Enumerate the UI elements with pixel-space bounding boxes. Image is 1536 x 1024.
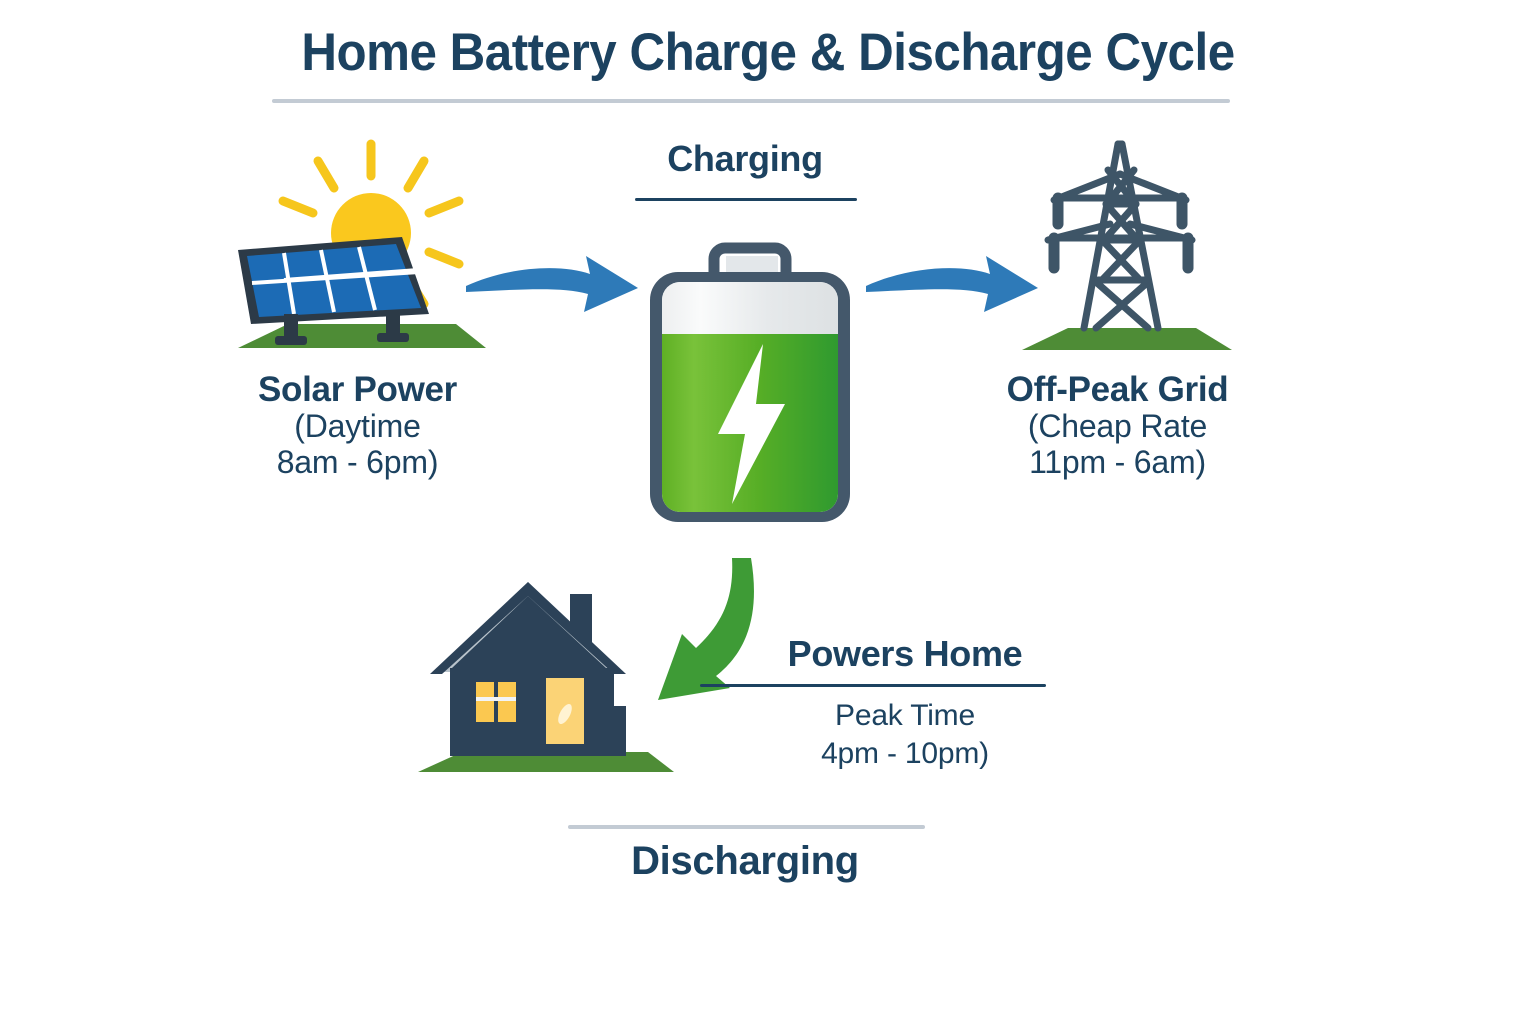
- powers-home-title: Powers Home: [750, 635, 1060, 673]
- charging-label-text: Charging: [595, 140, 895, 178]
- off-peak-grid-label: Off-Peak Grid (Cheap Rate 11pm - 6am): [965, 370, 1270, 481]
- charging-underline: [635, 198, 857, 201]
- discharging-divider: [568, 825, 925, 829]
- infographic-canvas: Home Battery Charge & Discharge Cycle: [0, 0, 1536, 1024]
- off-peak-grid-title: Off-Peak Grid: [965, 370, 1270, 409]
- discharging-label-text: Discharging: [545, 840, 945, 882]
- powers-home-sub-2: 4pm - 10pm): [750, 735, 1060, 773]
- solar-power-label: Solar Power (Daytime 8am - 6pm): [205, 370, 510, 481]
- transmission-tower-icon: [1010, 128, 1240, 358]
- powers-home-underline: [700, 684, 1046, 687]
- solar-power-sub-1: (Daytime: [205, 409, 510, 445]
- house-icon: [410, 562, 680, 784]
- solar-power-title: Solar Power: [205, 370, 510, 409]
- powers-home-sub-1: Peak Time: [750, 697, 1060, 735]
- off-peak-grid-sub-1: (Cheap Rate: [965, 409, 1270, 445]
- title-divider: [272, 99, 1230, 103]
- battery-icon: [640, 246, 860, 546]
- off-peak-grid-sub-2: 11pm - 6am): [965, 445, 1270, 481]
- charging-label: Charging: [595, 140, 895, 178]
- solar-panel-icon: [228, 128, 493, 358]
- solar-power-sub-2: 8am - 6pm): [205, 445, 510, 481]
- discharging-label: Discharging: [545, 840, 945, 882]
- powers-home-sub: Peak Time 4pm - 10pm): [750, 697, 1060, 774]
- powers-home-label: Powers Home: [750, 635, 1060, 673]
- curved-arrow-right-icon-solar-to-battery: [462, 252, 642, 324]
- page-title: Home Battery Charge & Discharge Cycle: [54, 22, 1482, 83]
